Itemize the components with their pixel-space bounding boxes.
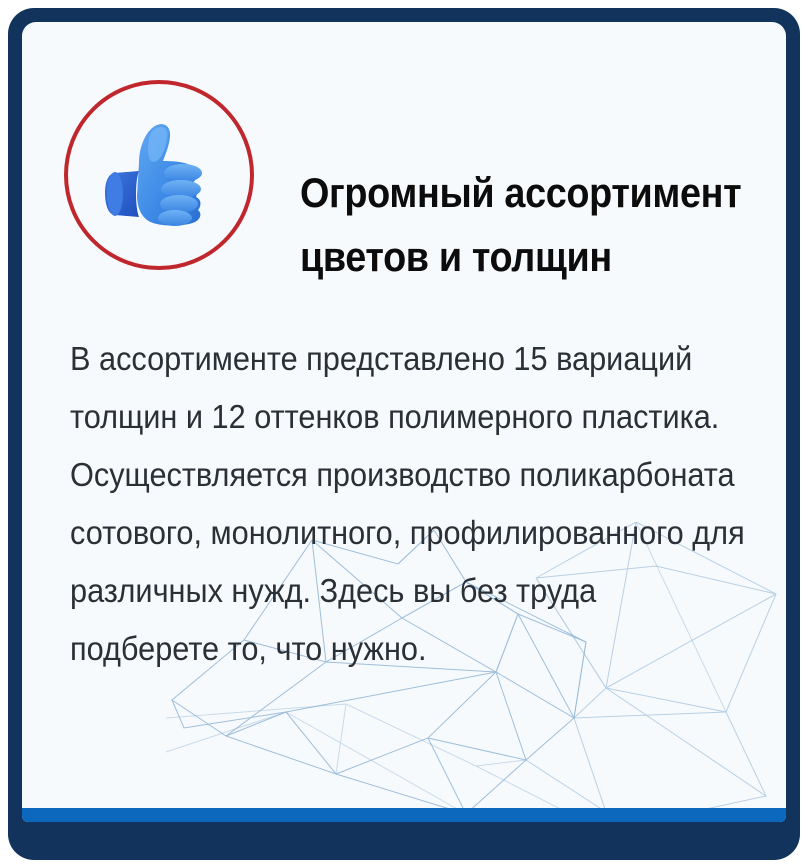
card-body-line: подберете то, что нужно. <box>70 620 721 678</box>
feature-card-frame: Огромный ассортимент цветов и толщин В а… <box>8 8 800 860</box>
feature-card: Огромный ассортимент цветов и толщин В а… <box>22 22 786 822</box>
card-body-line: сотового, монолитного, профилированного … <box>70 504 721 562</box>
thumbs-up-badge <box>64 80 254 270</box>
card-body-line: Осуществляется производство поликарбонат… <box>70 446 721 504</box>
card-heading-line: цветов и толщин <box>300 225 696 289</box>
card-header: Огромный ассортимент цветов и толщин <box>22 22 786 292</box>
bottom-accent-bar <box>22 808 786 822</box>
card-heading-line: Огромный ассортимент <box>300 161 696 225</box>
card-body-line: В ассортименте представлено 15 вариаций <box>70 330 721 388</box>
card-body-text: В ассортименте представлено 15 вариаций … <box>70 330 721 678</box>
card-body-line: толщин и 12 оттенков полимерного пластик… <box>70 388 721 446</box>
card-heading: Огромный ассортимент цветов и толщин <box>300 161 696 289</box>
card-body-line: различных нужд. Здесь вы без труда <box>70 562 721 620</box>
thumbs-up-icon <box>95 111 223 239</box>
